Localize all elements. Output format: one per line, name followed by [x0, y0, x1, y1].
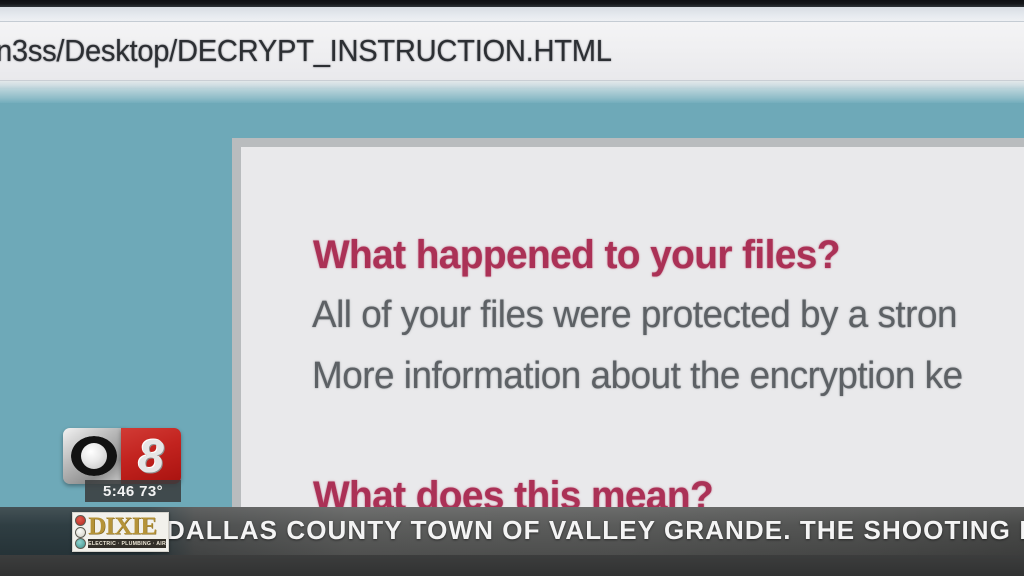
sponsor-fine-print [88, 548, 166, 549]
sponsor-text-block: DIXIE ELECTRIC · PLUMBING · AIR [88, 513, 168, 551]
sponsor-icon-column [73, 513, 88, 551]
ticker-headline-text: DALLAS COUNTY TOWN OF VALLEY GRANDE. THE… [166, 515, 1024, 546]
cream-circle-icon [75, 527, 86, 538]
address-bar-input[interactable]: n3ss/Desktop/DECRYPT_INSTRUCTION.HTML [0, 33, 612, 69]
note-paragraph-files-protected: All of your files were protected by a st… [312, 294, 957, 337]
cbs-eye-outer-shape [71, 436, 117, 476]
ticker-bottom-strip [0, 555, 1024, 576]
time-temperature-bar: 5:46 73° [85, 480, 181, 502]
time-temperature-text: 5:46 73° [103, 483, 163, 500]
teal-circle-icon [75, 538, 86, 549]
station-logo-bug: 8 5:46 73° [63, 428, 181, 484]
browser-titlebar [0, 0, 1024, 7]
broadcast-screenshot: n3ss/Desktop/DECRYPT_INSTRUCTION.HTML Wh… [0, 0, 1024, 576]
sponsor-name: DIXIE [88, 515, 166, 538]
note-heading-what-happened: What happened to your files? [313, 233, 840, 278]
red-circle-icon [75, 515, 86, 526]
channel-number: 8 [138, 433, 164, 479]
cbs-eye-icon [63, 428, 125, 484]
chrome-shadow-lower [0, 89, 1024, 103]
channel-number-badge: 8 [121, 428, 181, 484]
cbs-eye-pupil [81, 443, 107, 469]
sponsor-tagline: ELECTRIC · PLUMBING · AIR [88, 539, 166, 548]
sponsor-logo: DIXIE ELECTRIC · PLUMBING · AIR [72, 512, 169, 552]
chrome-shadow-upper [0, 81, 1024, 89]
note-paragraph-encryption-key: More information about the encryption ke [312, 355, 963, 398]
browser-toolbar [0, 7, 1024, 22]
address-bar[interactable]: n3ss/Desktop/DECRYPT_INSTRUCTION.HTML [0, 22, 1024, 81]
